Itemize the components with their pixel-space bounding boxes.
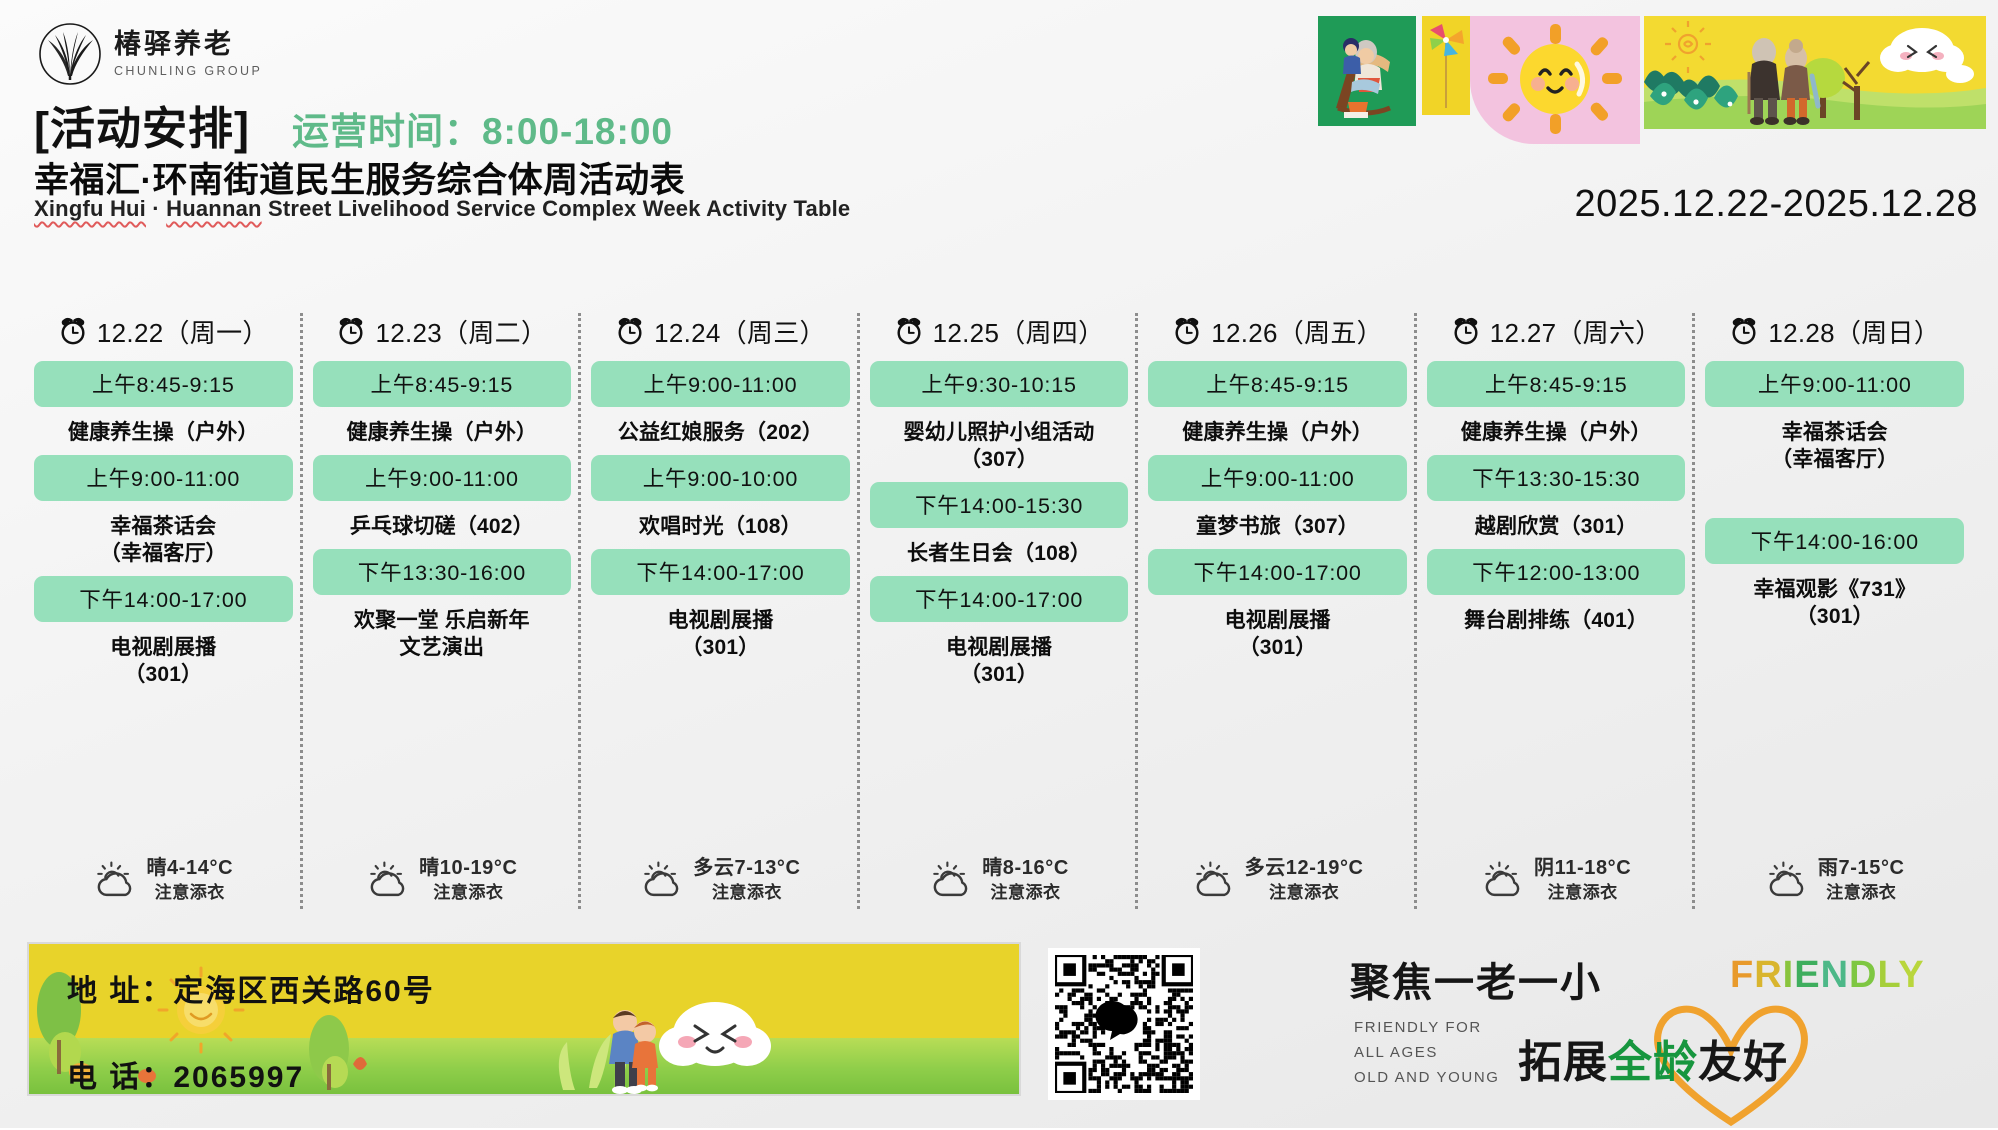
weather-temperature: 晴10-19°C bbox=[419, 855, 517, 882]
brand-logo: 椿驿养老 CHUNLING GROUP bbox=[38, 22, 262, 86]
weather-temperature: 多云12-19°C bbox=[1245, 855, 1364, 882]
activity-time-chip: 下午14:00-17:00 bbox=[1148, 549, 1407, 595]
activity-name: 童梦书旅（307） bbox=[1148, 501, 1407, 545]
activity-time-chip: 下午14:00-17:00 bbox=[34, 576, 293, 622]
activity-slot[interactable]: 上午9:00-11:00幸福茶话会 （幸福客厅） bbox=[34, 455, 293, 572]
sun-behind-cloud-icon bbox=[1192, 859, 1234, 901]
activity-time-chip: 上午8:45-9:15 bbox=[1427, 361, 1686, 407]
alarm-clock-icon bbox=[1451, 316, 1481, 346]
activity-name: 电视剧展播 （301） bbox=[870, 622, 1129, 693]
weather-text: 阴11-18°C注意添衣 bbox=[1534, 855, 1631, 905]
activity-slot[interactable]: 上午9:30-10:15婴幼儿照护小组活动 （307） bbox=[870, 361, 1129, 478]
day-date-label: 12.23（周二） bbox=[375, 313, 547, 350]
day-column: 12.25（周四）上午9:30-10:15婴幼儿照护小组活动 （307）下午14… bbox=[860, 305, 1139, 917]
slogan-secondary: 拓展全龄友好 bbox=[1518, 1026, 1788, 1090]
alarm-clock-icon bbox=[1172, 316, 1202, 346]
activity-time-chip: 下午12:00-13:00 bbox=[1427, 549, 1686, 595]
elderly-couple-park-illustration bbox=[1644, 16, 1986, 129]
sun-behind-cloud-icon bbox=[1765, 859, 1807, 901]
title-row: [活动安排] 运营时间：8:00-18:00 bbox=[34, 92, 673, 157]
brand-name-cn: 椿驿养老 bbox=[114, 31, 262, 58]
activity-time-chip: 上午9:00-11:00 bbox=[34, 455, 293, 501]
activity-time-chip: 上午9:00-11:00 bbox=[1705, 361, 1964, 407]
activity-name: 乒乓球切磋（402） bbox=[313, 501, 572, 545]
activity-name: 舞台剧排练（401） bbox=[1427, 595, 1686, 639]
sub-title: Xingfu Hui · Huannan Street Livelihood S… bbox=[34, 196, 850, 222]
page-header: 椿驿养老 CHUNLING GROUP [活动安排] 运营时间：8:00-18:… bbox=[0, 0, 1998, 300]
activity-name: 幸福观影《731》 （301） bbox=[1705, 564, 1964, 635]
weather-tip: 注意添衣 bbox=[982, 882, 1069, 905]
operating-hours: 运营时间：8:00-18:00 bbox=[292, 101, 673, 155]
day-header: 12.22（周一） bbox=[34, 305, 293, 357]
friendly-letter: D bbox=[1849, 954, 1877, 996]
weather-text: 晴10-19°C注意添衣 bbox=[419, 855, 517, 905]
day-column: 12.22（周一）上午8:45-9:15健康养生操（户外）上午9:00-11:0… bbox=[24, 305, 303, 917]
activity-slot[interactable]: 下午14:00-17:00电视剧展播 （301） bbox=[34, 576, 293, 693]
activity-slot[interactable]: 下午14:00-15:30长者生日会（108） bbox=[870, 482, 1129, 572]
activity-name: 健康养生操（户外） bbox=[1148, 407, 1407, 451]
friendly-letter: L bbox=[1878, 954, 1899, 996]
weather-temperature: 雨7-15°C bbox=[1818, 855, 1905, 882]
weather-text: 雨7-15°C注意添衣 bbox=[1818, 855, 1905, 905]
activity-name: 越剧欣赏（301） bbox=[1427, 501, 1686, 545]
wechat-qr-code-icon[interactable] bbox=[1048, 948, 1200, 1100]
activity-name: 健康养生操（户外） bbox=[1427, 407, 1686, 451]
weather-block: 晴4-14°C注意添衣 bbox=[34, 855, 293, 905]
slogan-english: FRIENDLY FOR ALL AGES OLD AND YOUNG bbox=[1354, 1016, 1500, 1090]
friendly-letter: Y bbox=[1898, 954, 1924, 996]
activity-slot[interactable]: 下午14:00-17:00电视剧展播 （301） bbox=[1148, 549, 1407, 666]
activity-slot[interactable]: 下午13:30-15:30越剧欣赏（301） bbox=[1427, 455, 1686, 545]
activity-time-chip: 上午9:00-11:00 bbox=[1148, 455, 1407, 501]
brand-name-en: CHUNLING GROUP bbox=[114, 65, 262, 78]
weather-temperature: 晴8-16°C bbox=[982, 855, 1069, 882]
pinwheel-illustration bbox=[1422, 16, 1470, 115]
activity-time-chip: 下午13:30-16:00 bbox=[313, 549, 572, 595]
activity-slot[interactable]: 上午9:00-11:00乒乓球切磋（402） bbox=[313, 455, 572, 545]
sun-behind-cloud-icon bbox=[93, 859, 135, 901]
sun-behind-cloud-icon bbox=[1481, 859, 1523, 901]
slogan-secondary-a: 拓展 bbox=[1518, 1038, 1608, 1087]
activity-name: 幸福茶话会 （幸福客厅） bbox=[34, 501, 293, 572]
activity-name: 电视剧展播 （301） bbox=[1148, 595, 1407, 666]
phone-line: 电 话：2065997 bbox=[67, 1052, 435, 1096]
weather-temperature: 多云7-13°C bbox=[693, 855, 800, 882]
slogan-block: 聚焦一老一小 FRIENDLY FRIENDLY FOR ALL AGES OL… bbox=[1320, 944, 1960, 1124]
alarm-clock-icon bbox=[615, 316, 645, 346]
activity-name: 健康养生操（户外） bbox=[313, 407, 572, 451]
weather-block: 多云12-19°C注意添衣 bbox=[1148, 855, 1407, 905]
activity-time-chip: 下午14:00-17:00 bbox=[870, 576, 1129, 622]
day-date-label: 12.26（周五） bbox=[1211, 313, 1383, 350]
day-date-label: 12.28（周日） bbox=[1768, 313, 1940, 350]
alarm-clock-icon bbox=[336, 316, 366, 346]
sun-behind-cloud-icon bbox=[366, 859, 408, 901]
weather-tip: 注意添衣 bbox=[1818, 882, 1905, 905]
day-header: 12.28（周日） bbox=[1705, 305, 1964, 357]
activity-time-chip: 上午8:45-9:15 bbox=[1148, 361, 1407, 407]
weather-block: 阴11-18°C注意添衣 bbox=[1427, 855, 1686, 905]
sun-behind-cloud-icon bbox=[929, 859, 971, 901]
activity-name: 欢聚一堂 乐启新年 文艺演出 bbox=[313, 595, 572, 666]
activity-slot[interactable]: 下午12:00-13:00舞台剧排练（401） bbox=[1427, 549, 1686, 639]
day-column: 12.28（周日）上午9:00-11:00幸福茶话会 （幸福客厅）下午14:00… bbox=[1695, 305, 1974, 917]
day-header: 12.27（周六） bbox=[1427, 305, 1686, 357]
sub-title-part-b: Huannan bbox=[166, 196, 262, 221]
activity-name: 电视剧展播 （301） bbox=[34, 622, 293, 693]
activity-slot[interactable] bbox=[1705, 482, 1964, 514]
activity-slot[interactable]: 上午8:45-9:15健康养生操（户外） bbox=[1427, 361, 1686, 451]
contact-text: 地 址：定海区西关路60号 电 话：2065997 bbox=[67, 966, 435, 1096]
day-column: 12.24（周三）上午9:00-11:00公益红娘服务（202）上午9:00-1… bbox=[581, 305, 860, 917]
weather-temperature: 晴4-14°C bbox=[146, 855, 233, 882]
activity-slot[interactable]: 上午8:45-9:15健康养生操（户外） bbox=[1148, 361, 1407, 451]
page-footer: 地 址：定海区西关路60号 电 话：2065997 聚焦一老一小 FRIENDL… bbox=[0, 930, 1998, 1128]
week-activity-grid: 12.22（周一）上午8:45-9:15健康养生操（户外）上午9:00-11:0… bbox=[24, 305, 1974, 917]
day-column: 12.26（周五）上午8:45-9:15健康养生操（户外）上午9:00-11:0… bbox=[1138, 305, 1417, 917]
alarm-clock-icon bbox=[1729, 316, 1759, 346]
activity-time-chip: 上午8:45-9:15 bbox=[34, 361, 293, 407]
weather-text: 晴8-16°C注意添衣 bbox=[982, 855, 1069, 905]
activity-name: 公益红娘服务（202） bbox=[591, 407, 850, 451]
activity-time-chip: 下午14:00-15:30 bbox=[870, 482, 1129, 528]
activity-time-chip: 上午9:00-11:00 bbox=[591, 361, 850, 407]
activity-time-chip: 上午9:30-10:15 bbox=[870, 361, 1129, 407]
activity-slot[interactable]: 上午9:00-10:00欢唱时光（108） bbox=[591, 455, 850, 545]
activity-slot[interactable]: 下午14:00-17:00电视剧展播 （301） bbox=[591, 549, 850, 666]
activity-time-chip: 上午8:45-9:15 bbox=[313, 361, 572, 407]
contact-banner: 地 址：定海区西关路60号 电 话：2065997 bbox=[27, 942, 1021, 1096]
sub-title-sep: · bbox=[146, 196, 166, 221]
weather-text: 多云12-19°C注意添衣 bbox=[1245, 855, 1364, 905]
day-header: 12.25（周四） bbox=[870, 305, 1129, 357]
day-column: 12.27（周六）上午8:45-9:15健康养生操（户外）下午13:30-15:… bbox=[1417, 305, 1696, 917]
activity-slot[interactable]: 上午8:45-9:15健康养生操（户外） bbox=[313, 361, 572, 451]
activity-time-chip: 下午14:00-16:00 bbox=[1705, 518, 1964, 564]
weather-tip: 注意添衣 bbox=[1534, 882, 1631, 905]
smiling-sun-illustration bbox=[1470, 16, 1640, 144]
slogan-primary: 聚焦一老一小 bbox=[1350, 950, 1602, 1008]
weather-block: 晴8-16°C注意添衣 bbox=[870, 855, 1129, 905]
alarm-clock-icon bbox=[58, 316, 88, 346]
activity-slot[interactable]: 下午13:30-16:00欢聚一堂 乐启新年 文艺演出 bbox=[313, 549, 572, 666]
day-date-label: 12.27（周六） bbox=[1490, 313, 1662, 350]
sun-behind-cloud-icon bbox=[640, 859, 682, 901]
slogan-secondary-b: 全龄 bbox=[1608, 1038, 1698, 1087]
day-column: 12.23（周二）上午8:45-9:15健康养生操（户外）上午9:00-11:0… bbox=[303, 305, 582, 917]
day-date-label: 12.25（周四） bbox=[933, 313, 1105, 350]
activity-slot[interactable]: 下午14:00-17:00电视剧展播 （301） bbox=[870, 576, 1129, 693]
day-header: 12.24（周三） bbox=[591, 305, 850, 357]
activity-slot[interactable]: 上午9:00-11:00幸福茶话会 （幸福客厅） bbox=[1705, 361, 1964, 478]
header-illustration bbox=[1318, 16, 1986, 144]
weather-tip: 注意添衣 bbox=[419, 882, 517, 905]
activity-time-chip: 上午9:00-10:00 bbox=[591, 455, 850, 501]
grandparent-reading-illustration bbox=[1318, 16, 1416, 126]
date-range: 2025.12.22-2025.12.28 bbox=[1574, 183, 1978, 226]
address-line: 地 址：定海区西关路60号 bbox=[67, 966, 435, 1010]
activity-slot[interactable]: 上午9:00-11:00童梦书旅（307） bbox=[1148, 455, 1407, 545]
weather-tip: 注意添衣 bbox=[1245, 882, 1364, 905]
activity-slot[interactable]: 下午14:00-16:00幸福观影《731》 （301） bbox=[1705, 518, 1964, 635]
page-title: [活动安排] bbox=[34, 92, 250, 157]
day-date-label: 12.24（周三） bbox=[654, 313, 826, 350]
sub-title-part-a: Xingfu Hui bbox=[34, 196, 146, 221]
activity-time-chip: 上午9:00-11:00 bbox=[313, 455, 572, 501]
weather-text: 晴4-14°C注意添衣 bbox=[146, 855, 233, 905]
activity-name: 电视剧展播 （301） bbox=[591, 595, 850, 666]
activity-slot[interactable]: 上午8:45-9:15健康养生操（户外） bbox=[34, 361, 293, 451]
day-header: 12.26（周五） bbox=[1148, 305, 1407, 357]
slogan-secondary-c: 友好 bbox=[1698, 1038, 1788, 1087]
weather-text: 多云7-13°C注意添衣 bbox=[693, 855, 800, 905]
weather-temperature: 阴11-18°C bbox=[1534, 855, 1631, 882]
activity-name: 长者生日会（108） bbox=[870, 528, 1129, 572]
weather-tip: 注意添衣 bbox=[693, 882, 800, 905]
activity-name: 健康养生操（户外） bbox=[34, 407, 293, 451]
activity-name: 幸福茶话会 （幸福客厅） bbox=[1705, 407, 1964, 478]
day-date-label: 12.22（周一） bbox=[97, 313, 269, 350]
activity-slot[interactable]: 上午9:00-11:00公益红娘服务（202） bbox=[591, 361, 850, 451]
activity-name: 欢唱时光（108） bbox=[591, 501, 850, 545]
activity-time-chip: 下午13:30-15:30 bbox=[1427, 455, 1686, 501]
alarm-clock-icon bbox=[894, 316, 924, 346]
fan-leaf-logo-icon bbox=[38, 22, 102, 86]
activity-name: 婴幼儿照护小组活动 （307） bbox=[870, 407, 1129, 478]
weather-block: 多云7-13°C注意添衣 bbox=[591, 855, 850, 905]
activity-time-chip: 下午14:00-17:00 bbox=[591, 549, 850, 595]
sub-title-part-c: Street Livelihood Service Complex Week A… bbox=[262, 196, 851, 221]
weather-tip: 注意添衣 bbox=[146, 882, 233, 905]
day-header: 12.23（周二） bbox=[313, 305, 572, 357]
weather-block: 晴10-19°C注意添衣 bbox=[313, 855, 572, 905]
weather-block: 雨7-15°C注意添衣 bbox=[1705, 855, 1964, 905]
